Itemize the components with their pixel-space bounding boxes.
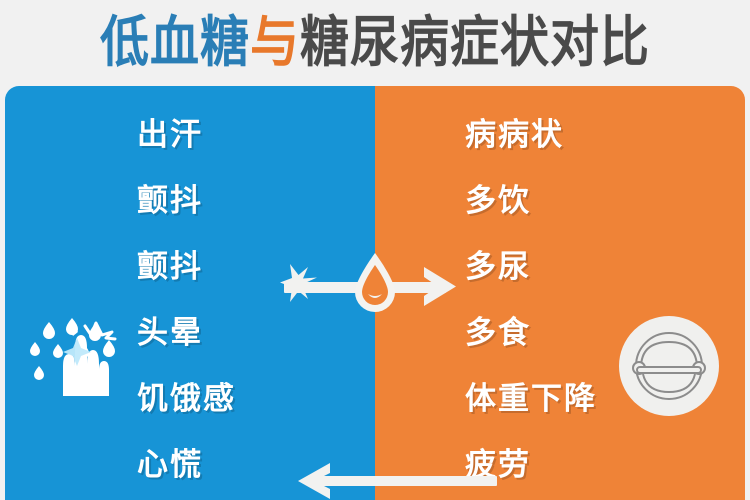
sweating-hand-icon: [27, 308, 127, 408]
blood-drop-icon: [352, 252, 398, 314]
title-bar: 低血糖与糖尿病症状对比: [0, 0, 750, 86]
arrow-left-icon: [282, 462, 497, 500]
list-item: 颤抖: [5, 164, 375, 230]
list-item: 多饮: [375, 164, 745, 230]
infographic-root: 低血糖与糖尿病症状对比 出汗 颤抖 颤抖 头晕 饥饿感 心慌: [0, 0, 750, 500]
title-segment-diabetes: 糖尿病症状对比: [300, 12, 650, 72]
list-item: 出汗: [5, 98, 375, 164]
page-title: 低血糖与糖尿病症状对比: [100, 16, 650, 71]
list-item: 病病状: [375, 98, 745, 164]
title-segment-conjunction: 与: [250, 12, 300, 72]
title-segment-hypoglycemia: 低血糖: [100, 12, 250, 72]
cooking-pot-icon: [615, 312, 723, 420]
panel-hypoglycemia: 出汗 颤抖 颤抖 头晕 饥饿感 心慌: [5, 86, 375, 500]
